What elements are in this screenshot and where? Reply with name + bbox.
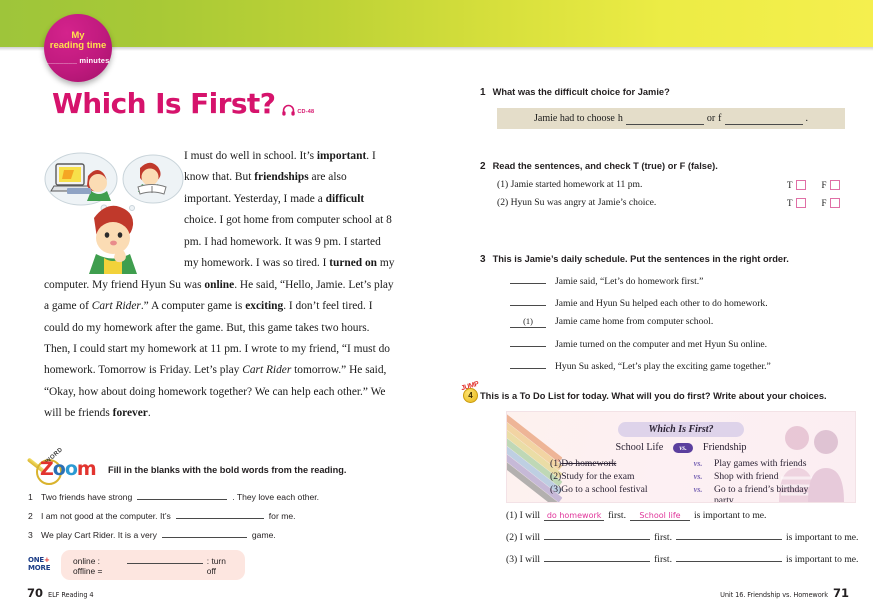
passage-image-spacer — [44, 146, 184, 266]
question-2-item-1: (1) Jamie started homework at 11 pm. T F — [497, 179, 860, 190]
passage-bold-friendships: friendships — [254, 171, 308, 183]
jump-badge: JUMP 4 — [461, 384, 483, 406]
todo-row-3-vs: vs. — [682, 485, 714, 494]
page-title: Which Is First? — [52, 90, 275, 118]
todo-row-1-right: Play games with friends — [714, 458, 812, 469]
question-3-item-5: Hyun Su asked, “Let’s play the exciting … — [510, 357, 860, 372]
todo-row-2-num: (2) — [550, 471, 561, 482]
question-2: 2 Read the sentences, and check T (true)… — [480, 161, 860, 208]
question-1-end: . — [806, 113, 809, 124]
write-row-3-label: (3) I will — [506, 554, 540, 565]
audio-cd-mark: CD-48 — [282, 104, 314, 118]
passage-italic-rider: Rider — [116, 300, 141, 312]
write-row-1-answer-1[interactable]: do homework — [544, 511, 604, 521]
order-input-1[interactable] — [510, 272, 546, 284]
question-3-item-4: Jamie turned on the computer and met Hyu… — [510, 335, 860, 350]
todo-row-2-left: (2)Study for the exam — [550, 471, 682, 482]
passage-l8a: .” A computer game is — [141, 300, 245, 312]
question-3-text: This is Jamie’s daily schedule. Put the … — [493, 254, 789, 264]
question-1-input-2[interactable] — [725, 113, 803, 125]
page-number-left: 70 — [27, 586, 43, 600]
write-row-2-mid: first. — [654, 532, 672, 543]
order-text-4: Jamie turned on the computer and met Hyu… — [555, 339, 767, 350]
word-zoom-item-3: 3 We play Cart Rider. It is a very game. — [28, 528, 348, 542]
passage-l6a: tired. I — [296, 257, 329, 269]
word-zoom-item-1-after: . They love each other. — [232, 491, 319, 504]
todo-row-2-vs: vs. — [682, 472, 714, 481]
passage-l1b: . — [366, 150, 369, 162]
word-zoom-item-3-num: 3 — [28, 529, 36, 542]
todo-row-1: (1)Do homework vs. Play games with frien… — [550, 458, 812, 469]
order-input-5[interactable] — [510, 357, 546, 369]
write-row-1-mid: first. — [608, 510, 626, 521]
true-label-2: T — [787, 198, 793, 208]
question-3-item-2: Jamie and Hyun Su helped each other to d… — [510, 294, 860, 309]
order-input-4[interactable] — [510, 335, 546, 347]
question-1-input-1[interactable] — [626, 113, 704, 125]
todo-row-3-left-text: Go to a school festival — [561, 484, 647, 495]
passage-bold-turned-on: turned on — [329, 257, 377, 269]
question-4: JUMP 4 This is a To Do List for today. W… — [480, 391, 860, 565]
todo-row-3-left: (3)Go to a school festival — [550, 484, 682, 495]
story-title-row: Which Is First? CD-48 — [52, 90, 314, 118]
order-text-5: Hyun Su asked, “Let’s play the exciting … — [555, 361, 771, 372]
question-1: 1 What was the difficult choice for Jami… — [480, 87, 860, 129]
question-1-prefix: Jamie had to choose — [534, 113, 615, 124]
passage-l11a: Tomorrow is Friday. Let’s play — [98, 364, 242, 376]
word-zoom-item-2: 2 I am not good at the computer. It’s fo… — [28, 509, 348, 523]
question-2-item-2-true[interactable]: T — [787, 198, 806, 208]
footer-right-text: Unit 16. Friendship vs. Homework — [720, 591, 828, 599]
word-zoom-item-2-num: 2 — [28, 510, 36, 523]
question-4-text: This is a To Do List for today. What wil… — [480, 391, 827, 401]
question-3-number: 3 — [480, 254, 486, 265]
order-text-2: Jamie and Hyun Su helped each other to d… — [555, 298, 768, 309]
question-2-number: 2 — [480, 161, 486, 172]
write-row-2-input-2[interactable] — [676, 528, 782, 540]
one-more-line2: MORE — [28, 564, 50, 572]
false-label-1: F — [822, 180, 827, 190]
one-more-before: online : offline = — [73, 556, 123, 576]
write-row-3-end: is important to me. — [786, 554, 858, 565]
question-2-item-2: (2) Hyun Su was angry at Jamie’s choice.… — [497, 197, 860, 208]
passage-l13: . — [148, 407, 151, 419]
write-row-3-mid: first. — [654, 554, 672, 565]
checkbox-false-2[interactable] — [830, 198, 840, 208]
headphones-icon — [282, 104, 295, 116]
todo-col-right-header: Friendship — [703, 442, 747, 453]
write-row-1-answer-2[interactable]: School life — [630, 511, 690, 521]
write-row-1-label: (1) I will — [506, 510, 540, 521]
word-zoom-item-2-after: for me. — [269, 510, 296, 523]
order-text-3: Jamie came home from computer school. — [555, 316, 713, 327]
passage-bold-online: online — [204, 279, 234, 291]
footer-left-text: ELF Reading 4 — [48, 591, 93, 599]
todo-row-2-right: Shop with friend — [714, 471, 812, 482]
passage-bold-important: important — [317, 150, 366, 162]
question-3-item-1: Jamie said, “Let’s do homework first.” — [510, 272, 860, 287]
question-3-header: 3 This is Jamie’s daily schedule. Put th… — [480, 254, 860, 265]
word-zoom-logo-text: Zoom — [40, 460, 96, 479]
question-1-middle: or — [707, 113, 715, 124]
todo-row-1-num: (1) — [550, 458, 561, 469]
todo-row-1-vs: vs. — [682, 459, 714, 468]
write-row-2-label: (2) I will — [506, 532, 540, 543]
order-input-3[interactable]: (1) — [510, 316, 546, 328]
vs-pill: vs. — [673, 443, 693, 453]
todo-row-3-right: Go to a friend’s birthday party — [714, 484, 812, 503]
todo-column-headers: School Life vs. Friendship — [507, 442, 855, 453]
write-row-1: (1) I will do homework first. School lif… — [506, 510, 860, 521]
write-row-3-input-1[interactable] — [544, 550, 650, 562]
one-more-pill: online : offline = : turn off — [61, 550, 245, 580]
question-2-item-2-text: (2) Hyun Su was angry at Jamie’s choice. — [497, 197, 787, 208]
checkbox-true-1[interactable] — [796, 180, 806, 190]
one-more-badge: ONE+ MORE — [28, 557, 54, 572]
left-page: Which Is First? CD-48 — [0, 51, 455, 578]
question-3-item-3: (1) Jamie came home from computer school… — [510, 316, 860, 328]
write-row-3-input-2[interactable] — [676, 550, 782, 562]
one-more-section: ONE+ MORE online : offline = : turn off — [28, 550, 348, 580]
question-1-number: 1 — [480, 87, 486, 98]
word-zoom-item-3-after: game. — [252, 529, 276, 542]
word-zoom-item-2-input[interactable] — [176, 509, 264, 519]
question-1-hint-1: h — [618, 113, 623, 124]
true-label-1: T — [787, 180, 793, 190]
one-more-input[interactable] — [127, 554, 202, 564]
question-2-item-1-text: (1) Jamie started homework at 11 pm. — [497, 179, 787, 190]
question-4-number: 4 — [463, 388, 478, 403]
todo-row-2-left-text: Study for the exam — [561, 471, 634, 482]
order-text-1: Jamie said, “Let’s do homework first.” — [555, 276, 703, 287]
reading-time-line2: reading time — [50, 41, 107, 51]
write-row-2-input-1[interactable] — [544, 528, 650, 540]
reading-passage: I must do well in school. It’s important… — [44, 146, 396, 425]
word-zoom-item-1-before: Two friends have strong — [41, 491, 132, 504]
word-zoom-item-3-input[interactable] — [162, 528, 247, 538]
word-zoom-item-3-before: We play Cart Rider. It is a very — [41, 529, 157, 542]
question-1-hint-2: f — [718, 113, 721, 124]
right-page: 1 What was the difficult choice for Jami… — [455, 51, 873, 578]
passage-italic-cart-rider: Cart Rider — [242, 364, 291, 376]
passage-l2b: are also — [309, 171, 347, 183]
todo-rows: (1)Do homework vs. Play games with frien… — [507, 458, 855, 503]
page-number-right: 71 — [833, 586, 849, 600]
todo-row-3: (3)Go to a school festival vs. Go to a f… — [550, 484, 812, 503]
header-band — [0, 0, 873, 47]
footer-left: 70 ELF Reading 4 — [27, 586, 94, 600]
todo-list-panel: Which Is First? School Life vs. Friendsh… — [506, 411, 856, 503]
word-zoom-item-1: 1 Two friends have strong . They love ea… — [28, 490, 348, 504]
question-1-answer-bar: Jamie had to choose h or f . — [497, 108, 845, 129]
passage-l3b: choice. — [184, 214, 217, 226]
word-zoom-instruction: Fill in the blanks with the bold words f… — [108, 465, 346, 475]
word-zoom-item-1-num: 1 — [28, 491, 36, 504]
question-1-header: 1 What was the difficult choice for Jami… — [480, 87, 860, 98]
question-2-item-1-true[interactable]: T — [787, 180, 806, 190]
question-4-header: This is a To Do List for today. What wil… — [480, 391, 860, 401]
checkbox-true-2[interactable] — [796, 198, 806, 208]
question-2-text: Read the sentences, and check T (true) o… — [493, 161, 718, 171]
question-3: 3 This is Jamie’s daily schedule. Put th… — [480, 254, 860, 372]
write-row-1-end: is important to me. — [694, 510, 766, 521]
todo-row-3-num: (3) — [550, 484, 561, 495]
checkbox-false-1[interactable] — [830, 180, 840, 190]
cd-track-label: CD-48 — [297, 109, 314, 116]
passage-bold-difficult: difficult — [326, 193, 365, 205]
question-2-item-1-false[interactable]: F — [822, 180, 840, 190]
word-zoom-section: WORD Zoom Fill in the blanks with the bo… — [28, 455, 348, 580]
word-zoom-item-2-before: I am not good at the computer. It’s — [41, 510, 171, 523]
footer-right: Unit 16. Friendship vs. Homework 71 — [720, 586, 849, 600]
todo-title: Which Is First? — [618, 422, 743, 437]
order-input-2[interactable] — [510, 294, 546, 306]
question-1-text: What was the difficult choice for Jamie? — [493, 87, 670, 97]
todo-col-left-header: School Life — [615, 442, 663, 453]
write-row-3: (3) I will first. is important to me. — [506, 550, 860, 565]
write-row-2: (2) I will first. is important to me. — [506, 528, 860, 543]
passage-l3a: important. Yesterday, I made a — [184, 193, 326, 205]
passage-l1a: I must do well in school. It’s — [184, 150, 317, 162]
question-2-header: 2 Read the sentences, and check T (true)… — [480, 161, 860, 172]
question-2-item-2-false[interactable]: F — [822, 198, 840, 208]
one-more-after: : turn off — [207, 556, 233, 576]
word-zoom-logo: WORD Zoom — [28, 455, 102, 485]
word-zoom-header: WORD Zoom Fill in the blanks with the bo… — [28, 455, 348, 485]
passage-bold-forever: forever — [113, 407, 148, 419]
passage-italic-cart: Cart — [92, 300, 113, 312]
false-label-2: F — [822, 198, 827, 208]
todo-row-1-left: (1)Do homework — [550, 458, 682, 469]
word-zoom-item-1-input[interactable] — [137, 490, 227, 500]
todo-row-2: (2)Study for the exam vs. Shop with frie… — [550, 471, 812, 482]
todo-row-1-left-text: Do homework — [561, 458, 616, 469]
todo-content: Which Is First? School Life vs. Friendsh… — [507, 412, 855, 503]
passage-bold-exciting: exciting — [245, 300, 283, 312]
write-row-2-end: is important to me. — [786, 532, 858, 543]
